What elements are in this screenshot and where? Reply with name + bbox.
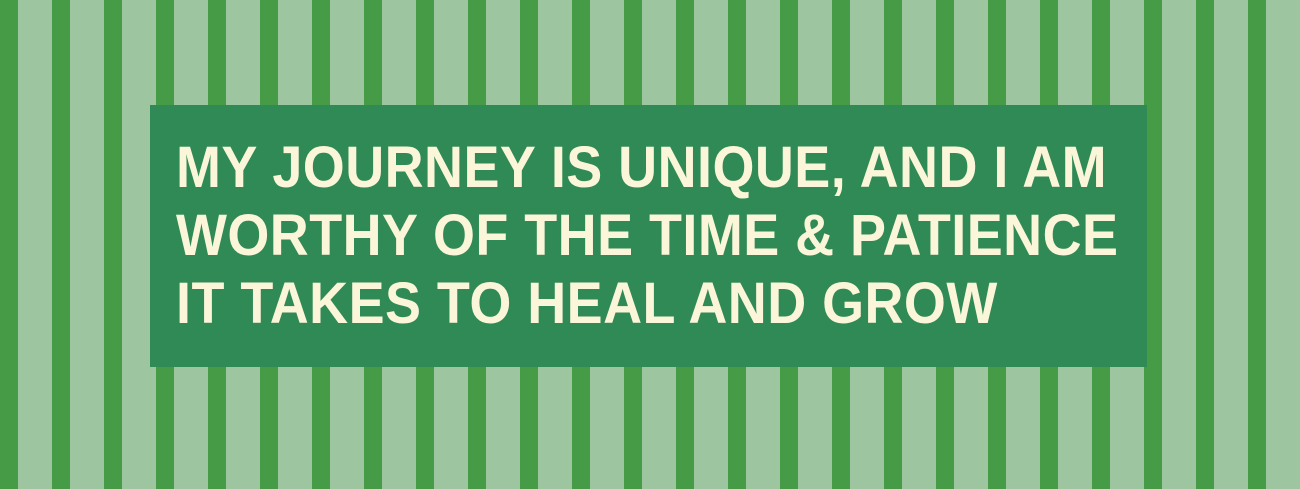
quote-card: MY JOURNEY IS UNIQUE, AND I AM WORTHY OF… [150, 105, 1147, 367]
quote-line-1: MY JOURNEY IS UNIQUE, AND I AM [176, 134, 1079, 202]
affirmation-banner: MY JOURNEY IS UNIQUE, AND I AM WORTHY OF… [0, 0, 1300, 489]
quote-line-3: IT TAKES TO HEAL AND GROW [176, 270, 1079, 338]
quote-line-2: WORTHY OF THE TIME & PATIENCE [176, 202, 1079, 270]
